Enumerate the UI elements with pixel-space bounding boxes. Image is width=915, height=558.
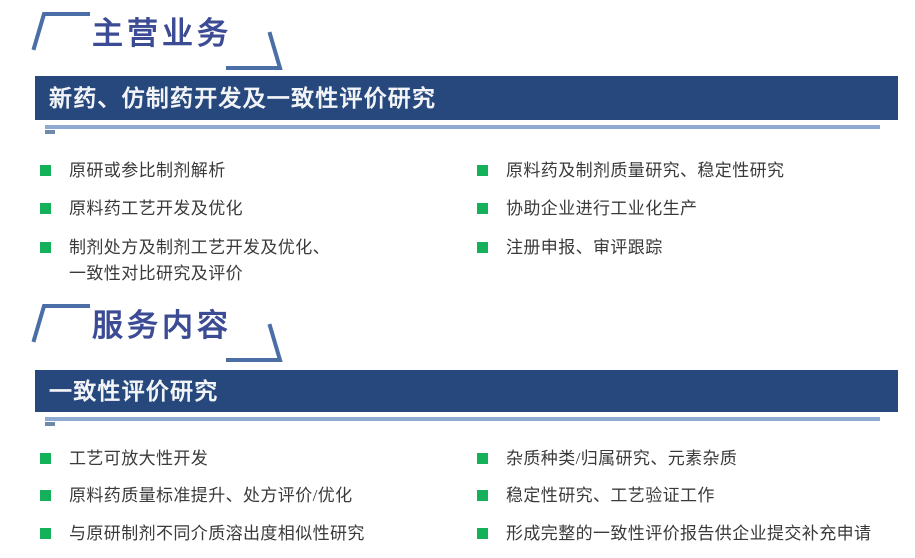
list-item: 稳定性研究、工艺验证工作 [477, 483, 912, 509]
banner-title: 新药、仿制药开发及一致性评价研究 [49, 87, 436, 110]
list-item: 形成完整的一致性评价报告供企业提交补充申请 [477, 521, 912, 547]
bullet-list-main-business-right: 原料药及制剂质量研究、稳定性研究 协助企业进行工业化生产 注册申报、审评跟踪 [477, 158, 897, 273]
list-item-label: 原研或参比制剂解析 [69, 158, 226, 184]
list-item-label: 与原研制剂不同介质溶出度相似性研究 [69, 521, 365, 547]
list-item-label: 工艺可放大性开发 [69, 446, 208, 472]
corner-bracket-bottom-right-icon [226, 316, 286, 368]
slide-root: 主营业务 新药、仿制药开发及一致性评价研究 原研或参比制剂解析 原料药工艺开发及… [0, 0, 915, 550]
list-item: 杂质种类/归属研究、元素杂质 [477, 446, 912, 472]
section-title-label: 服务内容 [92, 310, 232, 341]
banner-title: 一致性评价研究 [49, 380, 218, 403]
bullet-square-icon [40, 165, 51, 176]
banner-underline-cap [45, 422, 55, 426]
bullet-list-service-content-right: 杂质种类/归属研究、元素杂质 稳定性研究、工艺验证工作 形成完整的一致性评价报告… [477, 446, 912, 558]
list-item: 工艺可放大性开发 [40, 446, 470, 472]
bullet-list-main-business-left: 原研或参比制剂解析 原料药工艺开发及优化 制剂处方及制剂工艺开发及优化、 一致性… [40, 158, 460, 299]
list-item: 与原研制剂不同介质溶出度相似性研究 [40, 521, 470, 547]
section-title-main-business: 主营业务 [30, 4, 330, 66]
section-title-service-content: 服务内容 [30, 296, 330, 358]
list-item: 注册申报、审评跟踪 [477, 235, 897, 261]
list-item-label: 杂质种类/归属研究、元素杂质 [506, 446, 737, 472]
corner-bracket-top-left-icon [30, 298, 90, 350]
list-item-label: 注册申报、审评跟踪 [506, 235, 663, 261]
bullet-square-icon [477, 490, 488, 501]
corner-bracket-top-left-icon [30, 6, 90, 58]
bullet-list-service-content-left: 工艺可放大性开发 原料药质量标准提升、处方评价/优化 与原研制剂不同介质溶出度相… [40, 446, 470, 558]
list-item: 原研或参比制剂解析 [40, 158, 460, 184]
bullet-square-icon [40, 490, 51, 501]
banner-bar: 一致性评价研究 [35, 370, 898, 412]
list-item: 制剂处方及制剂工艺开发及优化、 一致性对比研究及评价 [40, 235, 460, 288]
list-item-label: 稳定性研究、工艺验证工作 [506, 483, 715, 509]
bullet-square-icon [40, 453, 51, 464]
bullet-square-icon [40, 242, 51, 253]
section-title-label: 主营业务 [92, 18, 232, 49]
list-item-label: 原料药及制剂质量研究、稳定性研究 [506, 158, 784, 184]
bullet-square-icon [477, 165, 488, 176]
corner-bracket-bottom-right-icon [226, 24, 286, 76]
list-item: 原料药及制剂质量研究、稳定性研究 [477, 158, 897, 184]
list-item-label: 形成完整的一致性评价报告供企业提交补充申请 [506, 521, 871, 547]
bullet-square-icon [477, 528, 488, 539]
banner-main-business: 新药、仿制药开发及一致性评价研究 [35, 76, 898, 129]
list-item: 原料药工艺开发及优化 [40, 196, 460, 222]
list-item: 协助企业进行工业化生产 [477, 196, 897, 222]
bullet-square-icon [477, 242, 488, 253]
list-item-label: 原料药工艺开发及优化 [69, 196, 243, 222]
banner-service-content: 一致性评价研究 [35, 370, 898, 421]
banner-bar: 新药、仿制药开发及一致性评价研究 [35, 76, 898, 120]
list-item: 原料药质量标准提升、处方评价/优化 [40, 483, 470, 509]
bullet-square-icon [40, 203, 51, 214]
list-item-label: 制剂处方及制剂工艺开发及优化、 一致性对比研究及评价 [69, 235, 330, 288]
bullet-square-icon [40, 528, 51, 539]
banner-underline [45, 125, 880, 129]
banner-underline-cap [45, 130, 55, 134]
banner-underline [45, 417, 880, 421]
list-item-label: 协助企业进行工业化生产 [506, 196, 697, 222]
list-item-label: 原料药质量标准提升、处方评价/优化 [69, 483, 353, 509]
bullet-square-icon [477, 203, 488, 214]
bullet-square-icon [477, 453, 488, 464]
